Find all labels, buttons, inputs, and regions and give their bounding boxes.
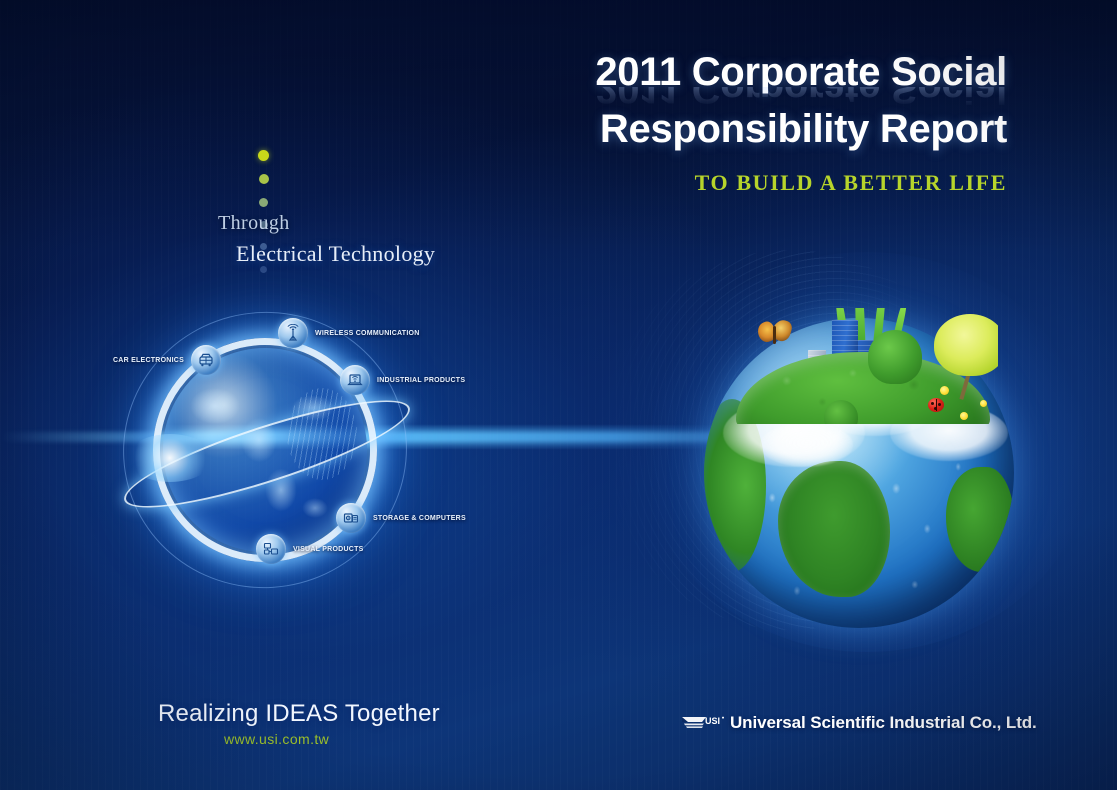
monitors-icon — [256, 534, 286, 564]
company-name: Universal Scientific Industrial Co., Ltd… — [730, 713, 1037, 733]
ladybug-spot — [938, 403, 941, 406]
through-text: Through — [218, 212, 290, 235]
laptop-icon — [340, 365, 370, 395]
node-label-storage-computers: STORAGE & COMPUTERS — [373, 515, 466, 522]
storage-icon — [336, 503, 366, 533]
title-reflection: 2011 Corporate Social — [487, 87, 1007, 109]
company-logo-block: USI Universal Scientific Industrial Co.,… — [680, 713, 1037, 733]
website-url[interactable]: www.usi.com.tw — [224, 731, 329, 747]
usi-logo-icon: USI — [680, 713, 726, 733]
tree-1 — [868, 330, 922, 384]
report-cover: 2011 Corporate Social 2011 Corporate Soc… — [0, 0, 1117, 790]
flower-3 — [980, 400, 987, 407]
node-label-industrial-products: INDUSTRIAL PRODUCTS — [377, 377, 465, 384]
tagline: TO BUILD A BETTER LIFE — [487, 170, 1007, 196]
node-storage-computers[interactable]: STORAGE & COMPUTERS — [336, 503, 466, 533]
antenna-icon — [278, 318, 308, 348]
dot-2 — [259, 174, 269, 184]
node-label-visual-products: VISUAL PRODUCTS — [293, 546, 364, 553]
ladybug-spot — [931, 402, 934, 405]
flower-1 — [940, 386, 949, 395]
butterfly — [758, 320, 792, 350]
dot-1 — [258, 150, 269, 161]
node-label-wireless-communication: WIRELESS COMMUNICATION — [315, 330, 420, 337]
node-label-car-electronics: CAR ELECTRONICS — [113, 357, 184, 364]
yellow-tree — [934, 314, 998, 376]
eco-globe — [672, 232, 1062, 632]
dot-6 — [260, 266, 267, 273]
cloud-4 — [760, 423, 853, 466]
electrical-technology-text: Electrical Technology — [236, 241, 435, 267]
node-wireless-communication[interactable]: WIRELESS COMMUNICATION — [278, 318, 420, 348]
butterfly-body — [773, 326, 776, 344]
car-icon — [191, 345, 221, 375]
lens-flare — [127, 434, 213, 482]
node-car-electronics[interactable]: CAR ELECTRONICS — [113, 345, 221, 375]
node-visual-products[interactable]: VISUAL PRODUCTS — [256, 534, 364, 564]
title-line-2: Responsibility Report — [487, 109, 1007, 150]
flower-2 — [960, 412, 968, 420]
dot-3 — [259, 198, 268, 207]
title-block: 2011 Corporate Social 2011 Corporate Soc… — [487, 52, 1007, 196]
node-industrial-products[interactable]: INDUSTRIAL PRODUCTS — [340, 365, 465, 395]
continent-africa — [946, 467, 1014, 572]
eco-landscape-cap — [728, 308, 998, 424]
slogan: Realizing IDEAS Together — [158, 700, 440, 728]
svg-text:USI: USI — [705, 716, 720, 726]
ladybug — [928, 398, 944, 412]
ladybug-spot — [934, 407, 937, 410]
